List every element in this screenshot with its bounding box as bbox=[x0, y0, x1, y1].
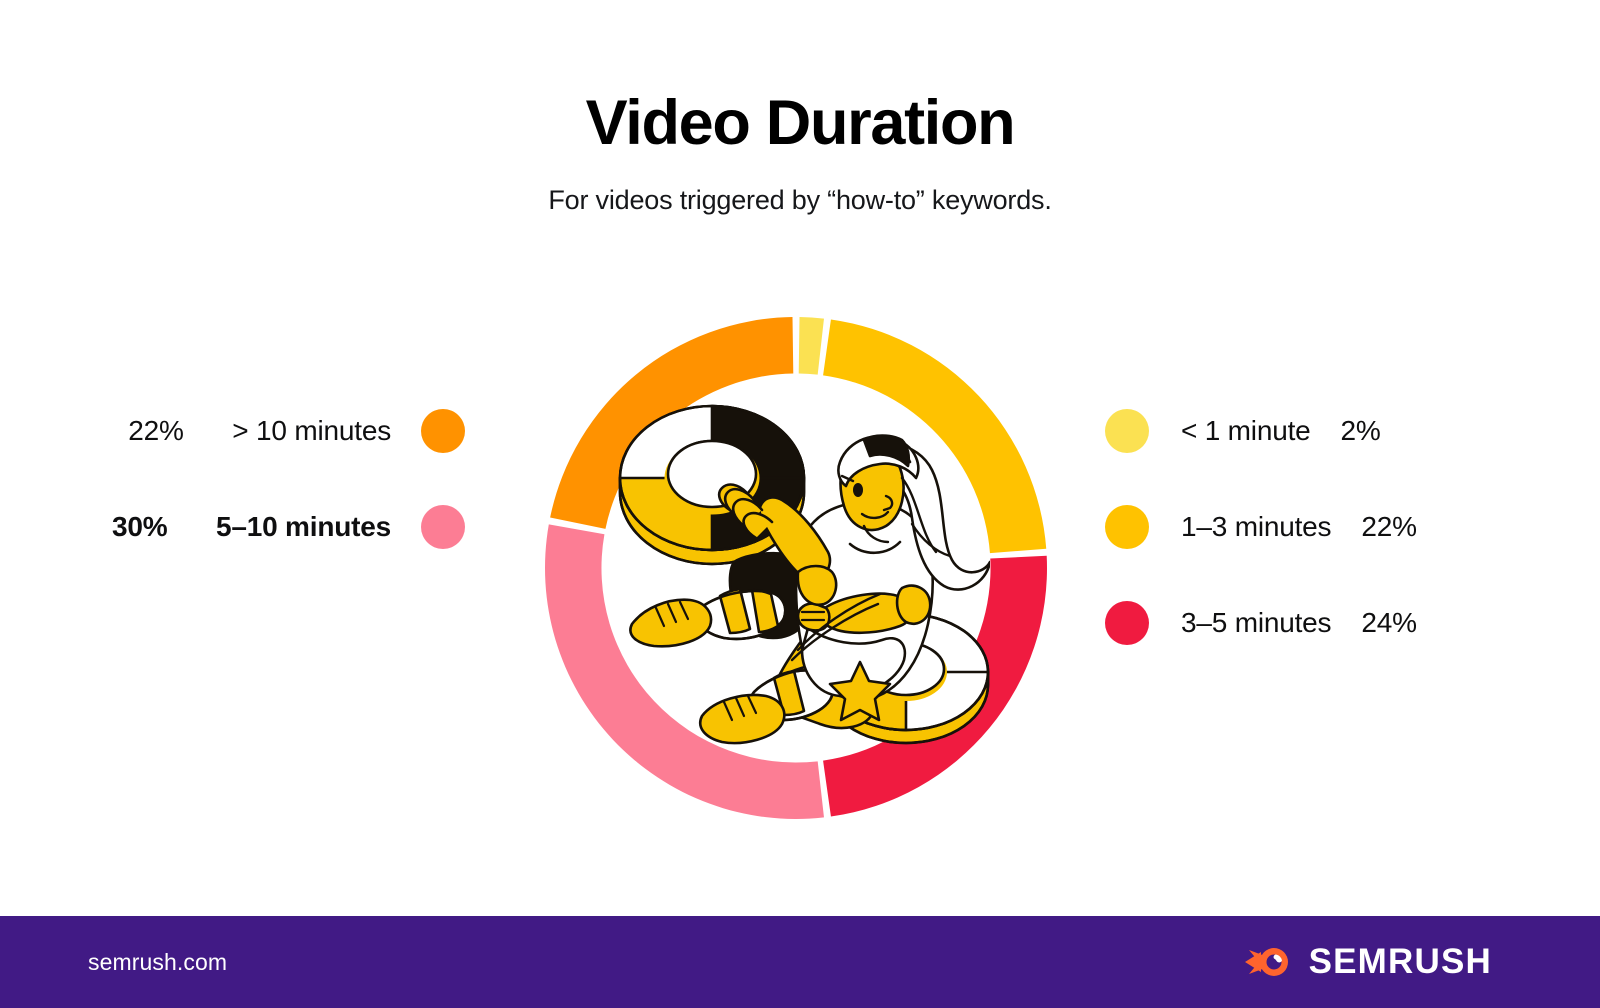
legend-percent: 30% bbox=[112, 511, 216, 543]
legend-percent: 22% bbox=[128, 415, 232, 447]
woman-juggling-swim-rings-illustration bbox=[602, 374, 990, 762]
legend-label: 3–5 minutes bbox=[1149, 607, 1331, 639]
footer-bar: semrush.com SEMRUSH bbox=[0, 916, 1600, 1008]
footer-url[interactable]: semrush.com bbox=[88, 949, 227, 976]
legend-percent: 2% bbox=[1311, 415, 1381, 447]
legend-item-5-10-minutes: 30% 5–10 minutes bbox=[105, 496, 465, 558]
legend-item-3-5-minutes: 3–5 minutes 24% bbox=[1105, 592, 1505, 654]
legend-item-over-10-minutes: 22% > 10 minutes bbox=[105, 400, 465, 462]
legend-swatch-over-10-minutes bbox=[421, 409, 465, 453]
shoe-left bbox=[630, 600, 711, 647]
legend-percent: 24% bbox=[1331, 607, 1416, 639]
semrush-comet-icon bbox=[1245, 945, 1293, 979]
legend-label: < 1 minute bbox=[1149, 415, 1311, 447]
donut-chart bbox=[544, 316, 1048, 820]
legend-label: 5–10 minutes bbox=[216, 511, 421, 543]
page-title: Video Duration bbox=[0, 92, 1600, 155]
semrush-logo[interactable]: SEMRUSH bbox=[1245, 942, 1492, 982]
legend-item-under-1-minute: < 1 minute 2% bbox=[1105, 400, 1505, 462]
legend-swatch-1-3-minutes bbox=[1105, 505, 1149, 549]
legend-label: 1–3 minutes bbox=[1149, 511, 1331, 543]
legend-swatch-5-10-minutes bbox=[421, 505, 465, 549]
header: Video Duration For videos triggered by “… bbox=[0, 0, 1600, 216]
legend-swatch-under-1-minute bbox=[1105, 409, 1149, 453]
legend-percent: 22% bbox=[1331, 511, 1416, 543]
chart-legend-left: 22% > 10 minutes 30% 5–10 minutes bbox=[105, 400, 465, 592]
legend-item-1-3-minutes: 1–3 minutes 22% bbox=[1105, 496, 1505, 558]
brand-name: SEMRUSH bbox=[1309, 942, 1492, 982]
shoe-lower bbox=[700, 695, 784, 743]
legend-swatch-3-5-minutes bbox=[1105, 601, 1149, 645]
donut-slice-1-minute[interactable] bbox=[799, 317, 824, 375]
legend-label: > 10 minutes bbox=[232, 415, 421, 447]
page-subtitle: For videos triggered by “how-to” keyword… bbox=[0, 185, 1600, 216]
chart-legend-right: < 1 minute 2% 1–3 minutes 22% 3–5 minute… bbox=[1105, 400, 1505, 688]
